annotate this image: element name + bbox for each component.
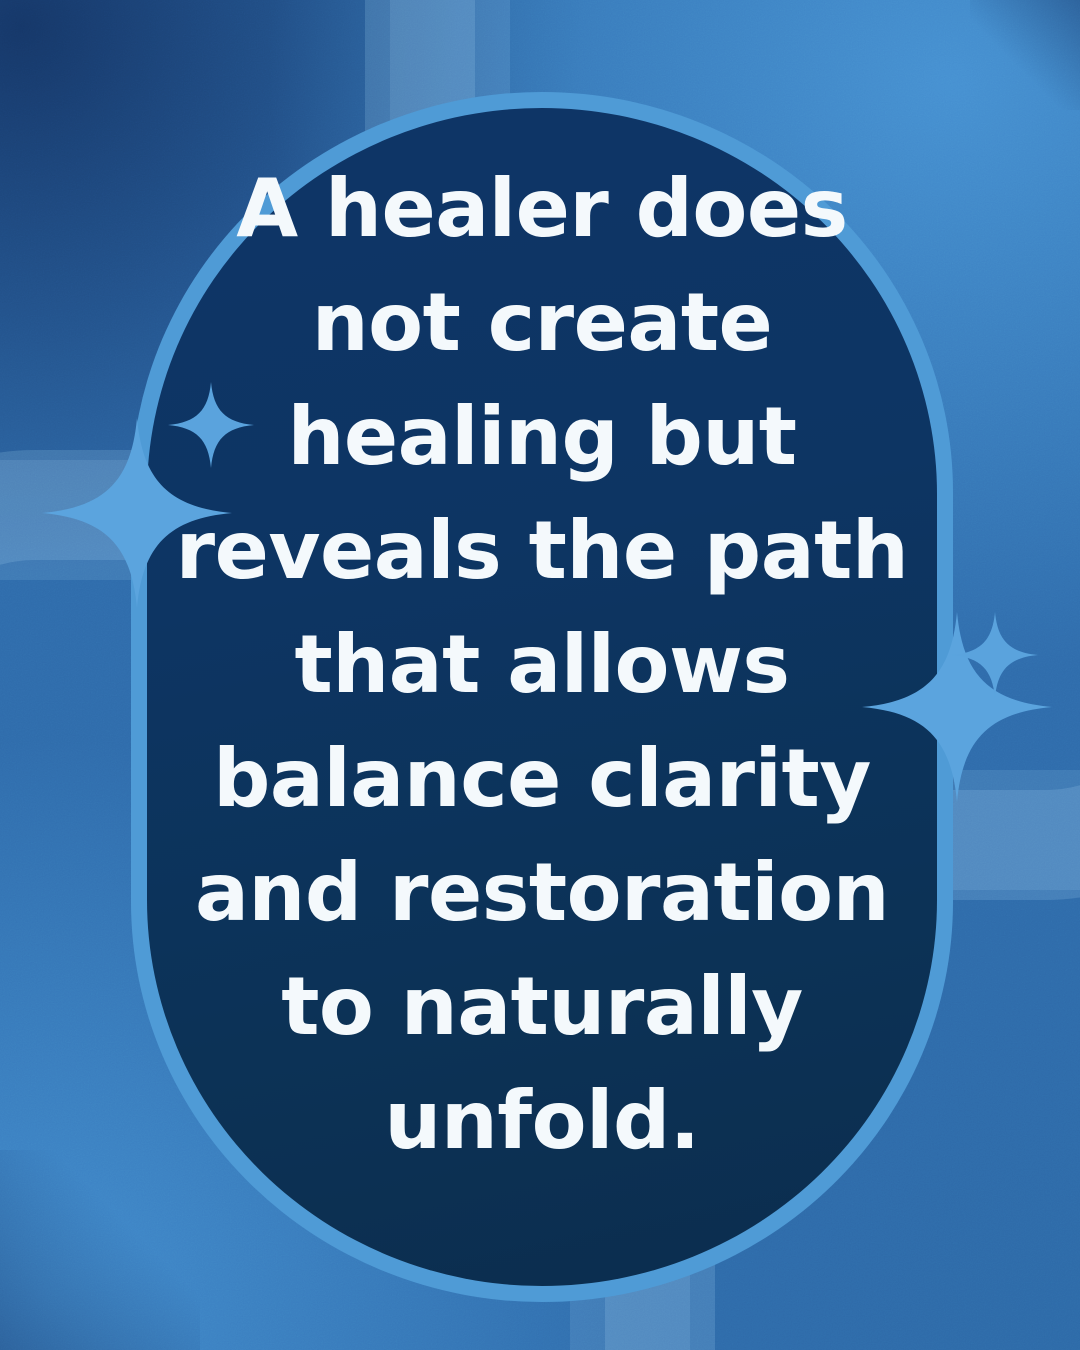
quote-text: A healer does not create healing but rev… [160,152,924,1178]
quote-line: healing but [160,380,924,494]
quote-line: that allows [160,608,924,722]
corner-shade-bottom-left [0,1150,200,1350]
quote-line: not create [160,266,924,380]
quote-poster: A healer does not create healing but rev… [0,0,1080,1350]
quote-line: unfold. [160,1064,924,1178]
quote-line: balance clarity [160,722,924,836]
quote-line: reveals the path [160,494,924,608]
quote-line: and restoration [160,836,924,950]
quote-line: to naturally [160,950,924,1064]
quote-line: A healer does [160,152,924,266]
corner-shade-top-right [970,0,1080,110]
